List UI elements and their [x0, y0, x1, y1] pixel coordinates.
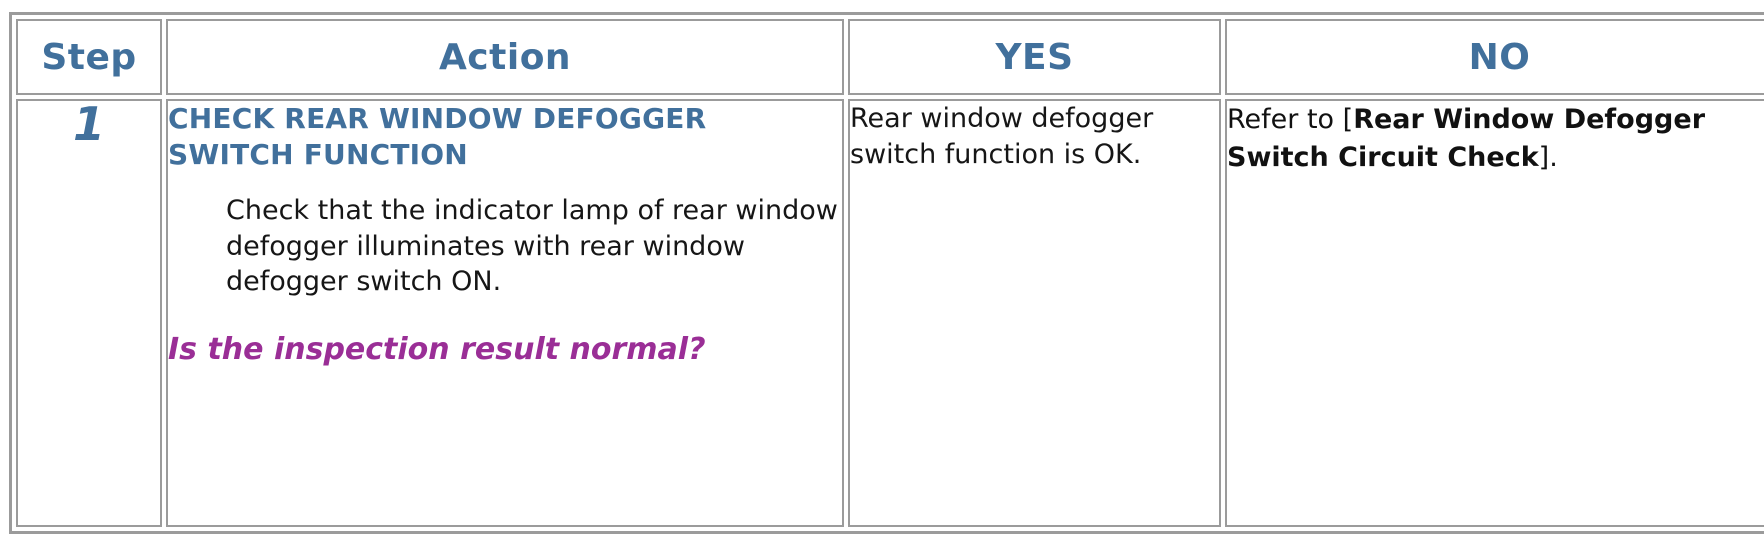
no-result-cell: Refer to [Rear Window Defogger Switch Ci…	[1225, 99, 1764, 527]
step-number-cell: 1	[16, 99, 162, 527]
column-header-yes: YES	[848, 19, 1221, 95]
no-result-suffix: ].	[1539, 142, 1558, 173]
action-question-text: Is the inspection result normal?	[168, 330, 842, 369]
action-title: CHECK REAR WINDOW DEFOGGER SWITCH FUNCTI…	[168, 101, 842, 173]
table-row: 1 CHECK REAR WINDOW DEFOGGER SWITCH FUNC…	[16, 99, 1764, 527]
diagnostic-table-container: Step Action YES NO 1 CHECK REAR WINDOW D…	[0, 0, 1764, 544]
diagnostic-procedure-table: Step Action YES NO 1 CHECK REAR WINDOW D…	[9, 12, 1764, 534]
column-header-step: Step	[16, 19, 162, 95]
table-header-row: Step Action YES NO	[16, 19, 1764, 95]
step-number: 1	[73, 101, 105, 147]
column-header-no: NO	[1225, 19, 1764, 95]
action-cell: CHECK REAR WINDOW DEFOGGER SWITCH FUNCTI…	[166, 99, 844, 527]
no-result-prefix: Refer to [	[1227, 104, 1353, 135]
column-header-action: Action	[166, 19, 844, 95]
yes-result-cell: Rear window defogger switch function is …	[848, 99, 1221, 527]
no-result-text: Refer to [Rear Window Defogger Switch Ci…	[1227, 101, 1764, 178]
action-detail-text: Check that the indicator lamp of rear wi…	[168, 193, 842, 301]
yes-result-text: Rear window defogger switch function is …	[850, 101, 1219, 173]
